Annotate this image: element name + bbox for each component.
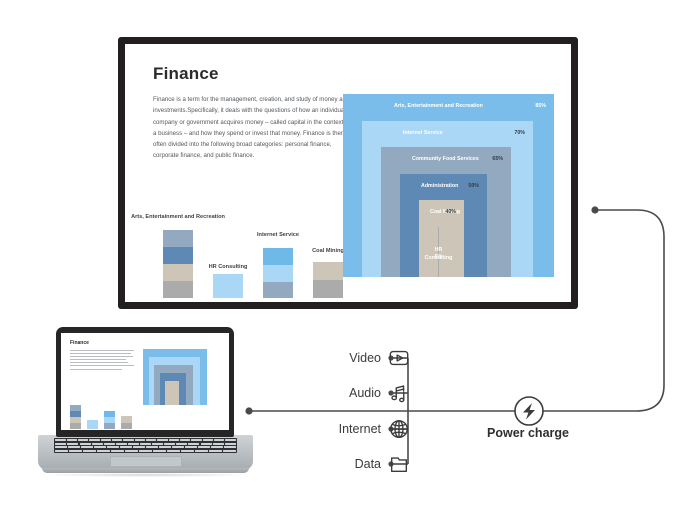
mini-funnel-bar xyxy=(165,381,179,405)
io-item-label: Internet xyxy=(339,422,381,436)
io-list-item[interactable]: Internet xyxy=(300,416,410,442)
video-play-icon-wrap xyxy=(388,347,410,369)
io-item-label: Data xyxy=(355,457,381,471)
folder-icon-wrap xyxy=(388,453,410,475)
music-notes-icon-wrap xyxy=(388,382,410,404)
funnel-bar: Coal Mining40% xyxy=(419,200,464,277)
infographic-canvas: Finance Finance is a term for the manage… xyxy=(0,0,700,525)
funnel-bar-value: 85% xyxy=(535,103,546,109)
funnel-bar: HR Consulting5% xyxy=(438,227,439,278)
io-item-label: Video xyxy=(349,351,381,365)
video-play-icon xyxy=(388,347,410,369)
io-list-item[interactable]: Video xyxy=(300,345,410,371)
io-list-item[interactable]: Data xyxy=(300,451,410,477)
mini-funnel-chart xyxy=(143,349,209,405)
funnel-bar-label: Internet Service xyxy=(403,130,443,136)
funnel-chart: Arts, Entertainment and Recreation85%Int… xyxy=(343,94,561,277)
globe-icon-wrap xyxy=(388,418,410,440)
funnel-bar-value: 50% xyxy=(468,183,479,189)
io-item-label: Audio xyxy=(349,386,381,400)
globe-icon xyxy=(388,418,410,440)
funnel-bar-value: 40% xyxy=(445,209,456,215)
music-notes-icon xyxy=(388,382,410,404)
folder-icon xyxy=(388,453,410,475)
io-list: VideoAudioInternetData xyxy=(300,341,410,477)
funnel-bar-label: Administration xyxy=(421,183,458,189)
io-list-item[interactable]: Audio xyxy=(300,380,410,406)
funnel-bar-label: Arts, Entertainment and Recreation xyxy=(394,103,483,109)
funnel-bar-value: 5% xyxy=(435,254,443,260)
power-charge-label: Power charge xyxy=(466,426,590,440)
funnel-bar-label: Community Food Services xyxy=(412,156,479,162)
funnel-bar-value: 65% xyxy=(492,156,503,162)
funnel-bar-value: 70% xyxy=(514,130,525,136)
